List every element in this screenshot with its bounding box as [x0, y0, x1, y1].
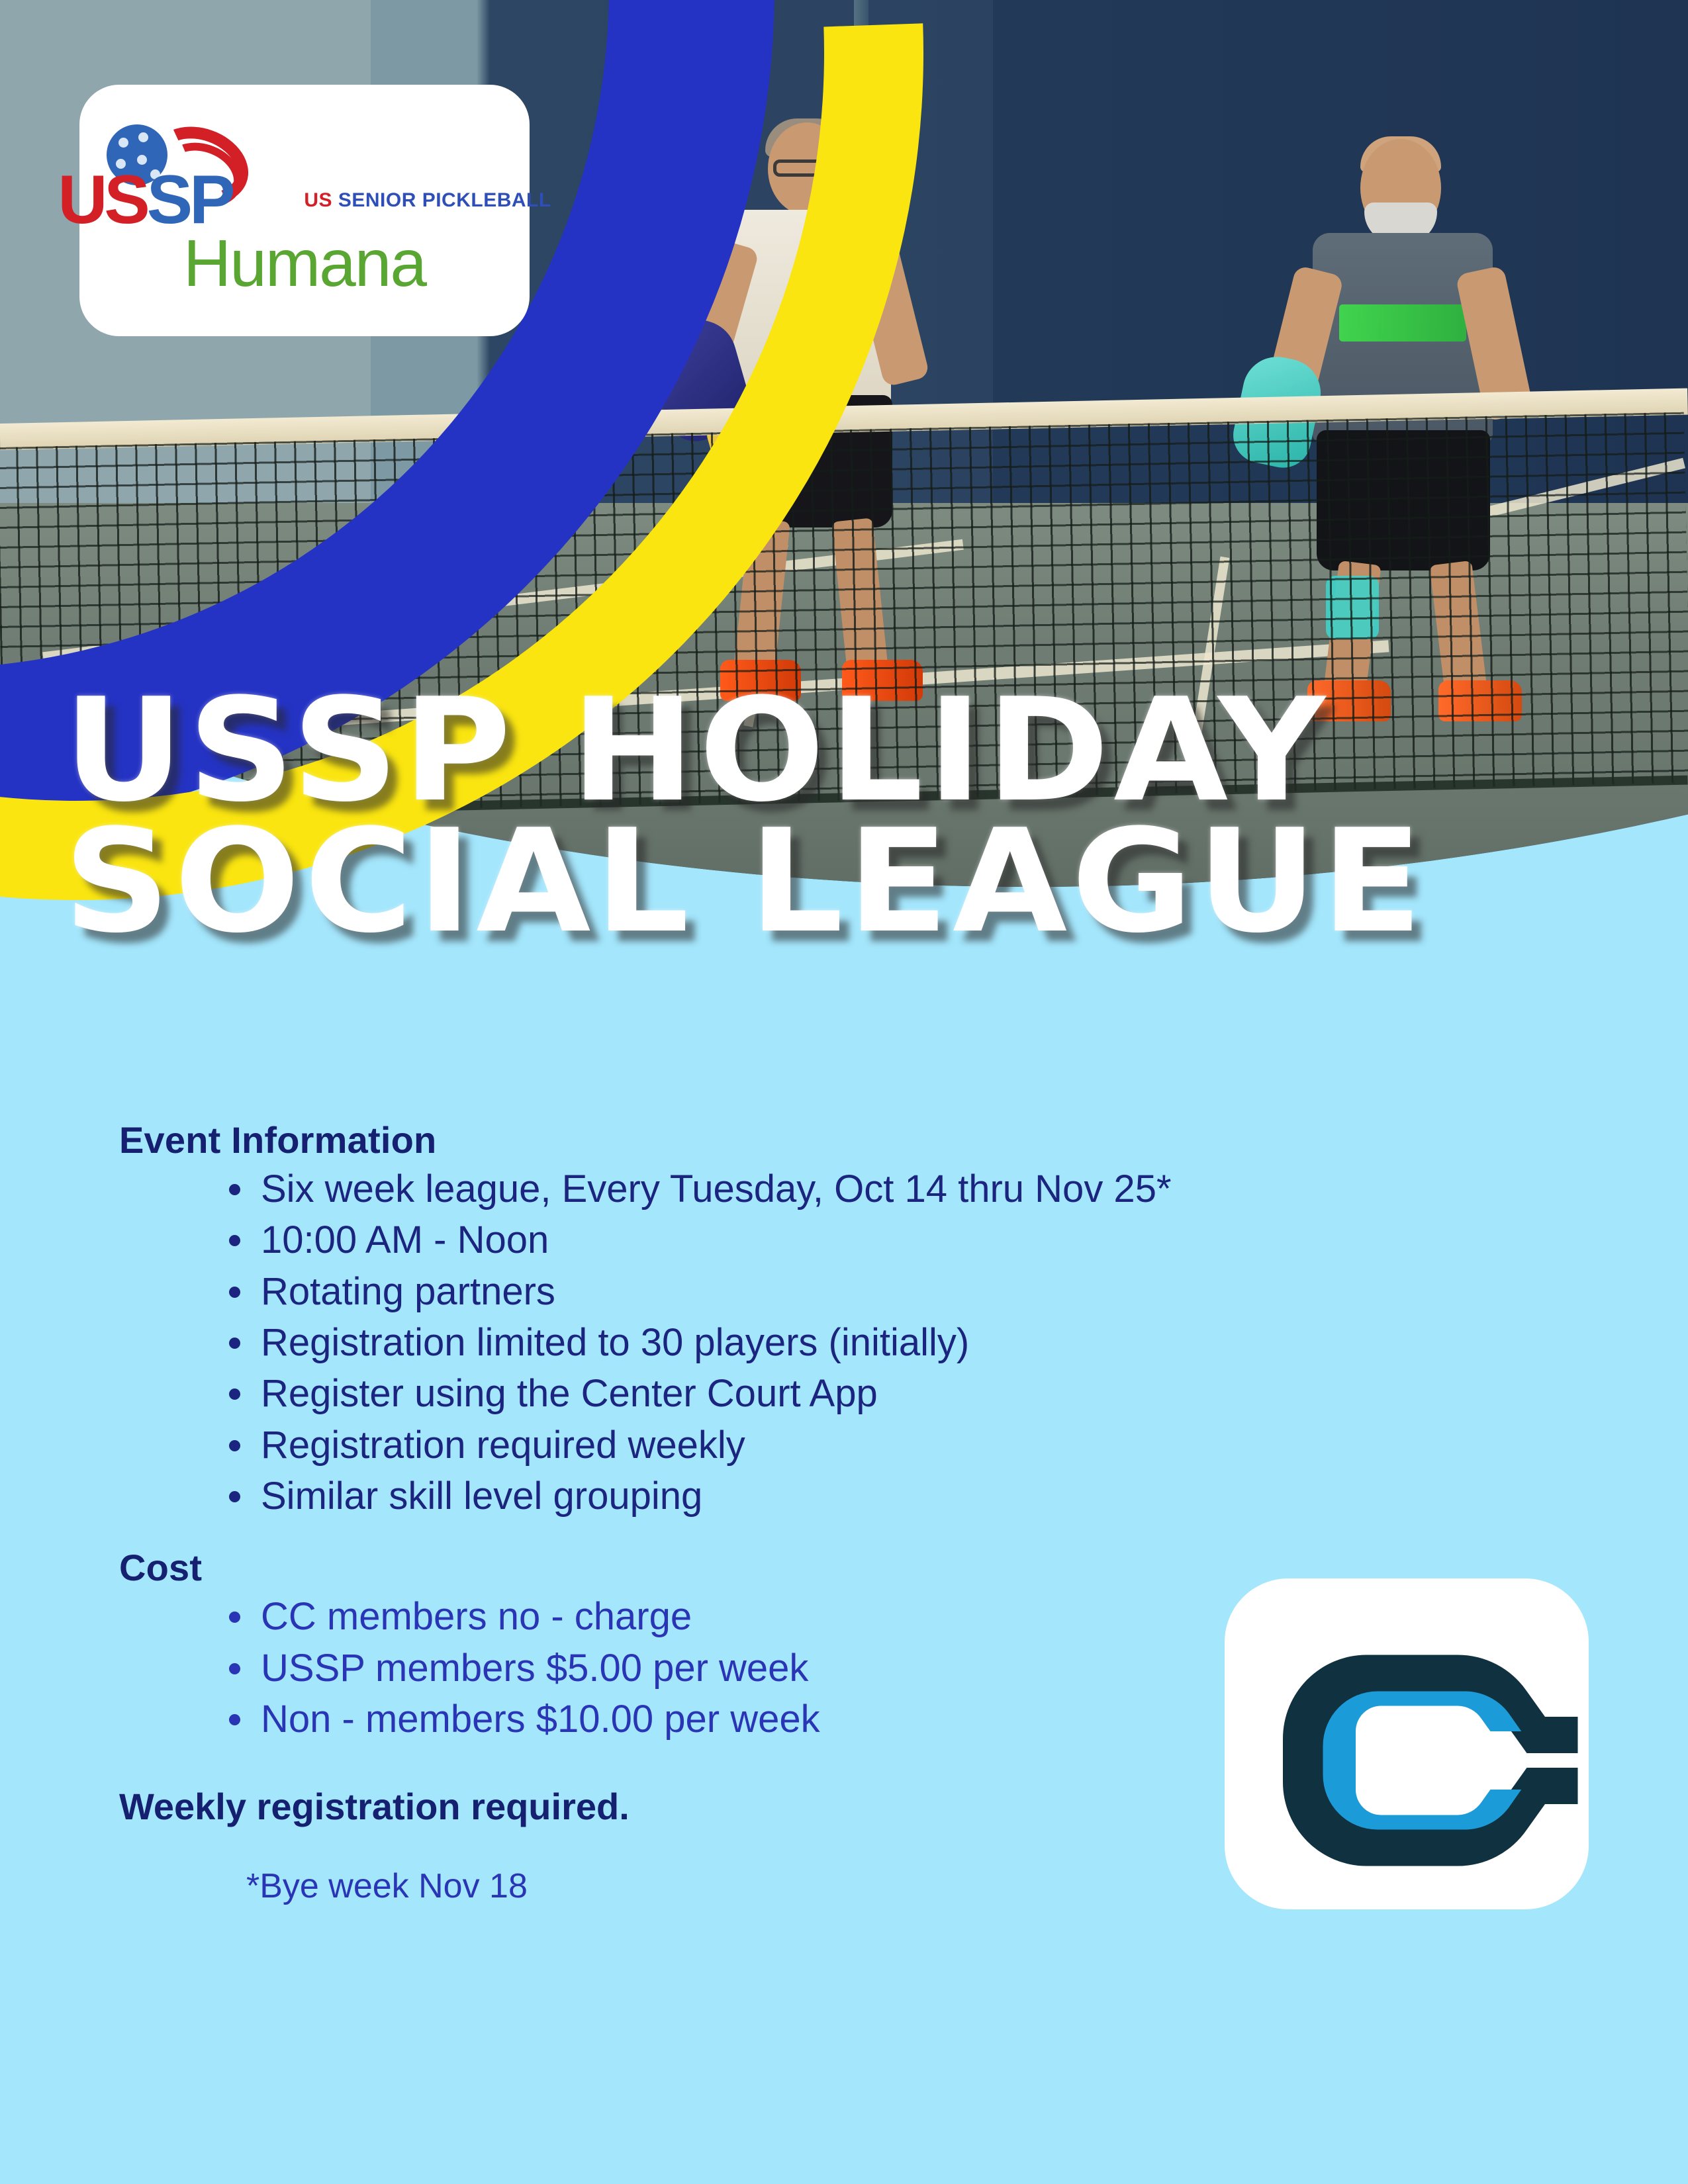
- ussp-tagline: US SENIOR PICKLEBALL: [304, 189, 551, 224]
- ussp-wordmark: USSP: [58, 165, 232, 234]
- ussp-humana-logo-card: USSP ★ US SENIOR PICKLEBALL Humana: [79, 85, 530, 336]
- flyer-poster: USSP ★ US SENIOR PICKLEBALL Humana USSP …: [0, 0, 1688, 2184]
- center-court-c-icon: [1225, 1578, 1589, 1942]
- ussp-logomark: USSP ★: [58, 124, 289, 224]
- center-court-app-logo: [1225, 1578, 1589, 1909]
- ussp-letter-u: U: [58, 161, 104, 238]
- list-item: Register using the Center Court App: [225, 1370, 1688, 1417]
- event-information-list: Six week league, Every Tuesday, Oct 14 t…: [225, 1165, 1688, 1520]
- ussp-letter-s1: S: [104, 161, 146, 238]
- tagline-us: US: [304, 189, 332, 211]
- humana-wordmark: Humana: [183, 230, 426, 296]
- tagline-rest: SENIOR PICKLEBALL: [332, 189, 551, 211]
- list-item: 10:00 AM - Noon: [225, 1216, 1688, 1263]
- c-inner-stroke: [1323, 1692, 1522, 1830]
- ussp-letter-p: P: [189, 161, 232, 238]
- ussp-letter-s2: S: [147, 161, 189, 238]
- list-item: Rotating partners: [225, 1268, 1688, 1315]
- list-item: Similar skill level grouping: [225, 1473, 1688, 1520]
- poster-title: USSP HOLIDAY SOCIAL LEAGUE: [64, 685, 1374, 947]
- shirt-graphic: [1339, 304, 1466, 341]
- list-item: Registration limited to 30 players (init…: [225, 1319, 1688, 1366]
- title-line-2: SOCIAL LEAGUE: [64, 816, 1427, 947]
- list-item: Registration required weekly: [225, 1422, 1688, 1469]
- star-icon: ★: [231, 188, 258, 218]
- event-information-heading: Event Information: [119, 1118, 1688, 1161]
- ussp-logo-row: USSP ★ US SENIOR PICKLEBALL: [58, 124, 551, 224]
- list-item: Six week league, Every Tuesday, Oct 14 t…: [225, 1165, 1688, 1212]
- title-line-1: USSP HOLIDAY: [64, 685, 1427, 816]
